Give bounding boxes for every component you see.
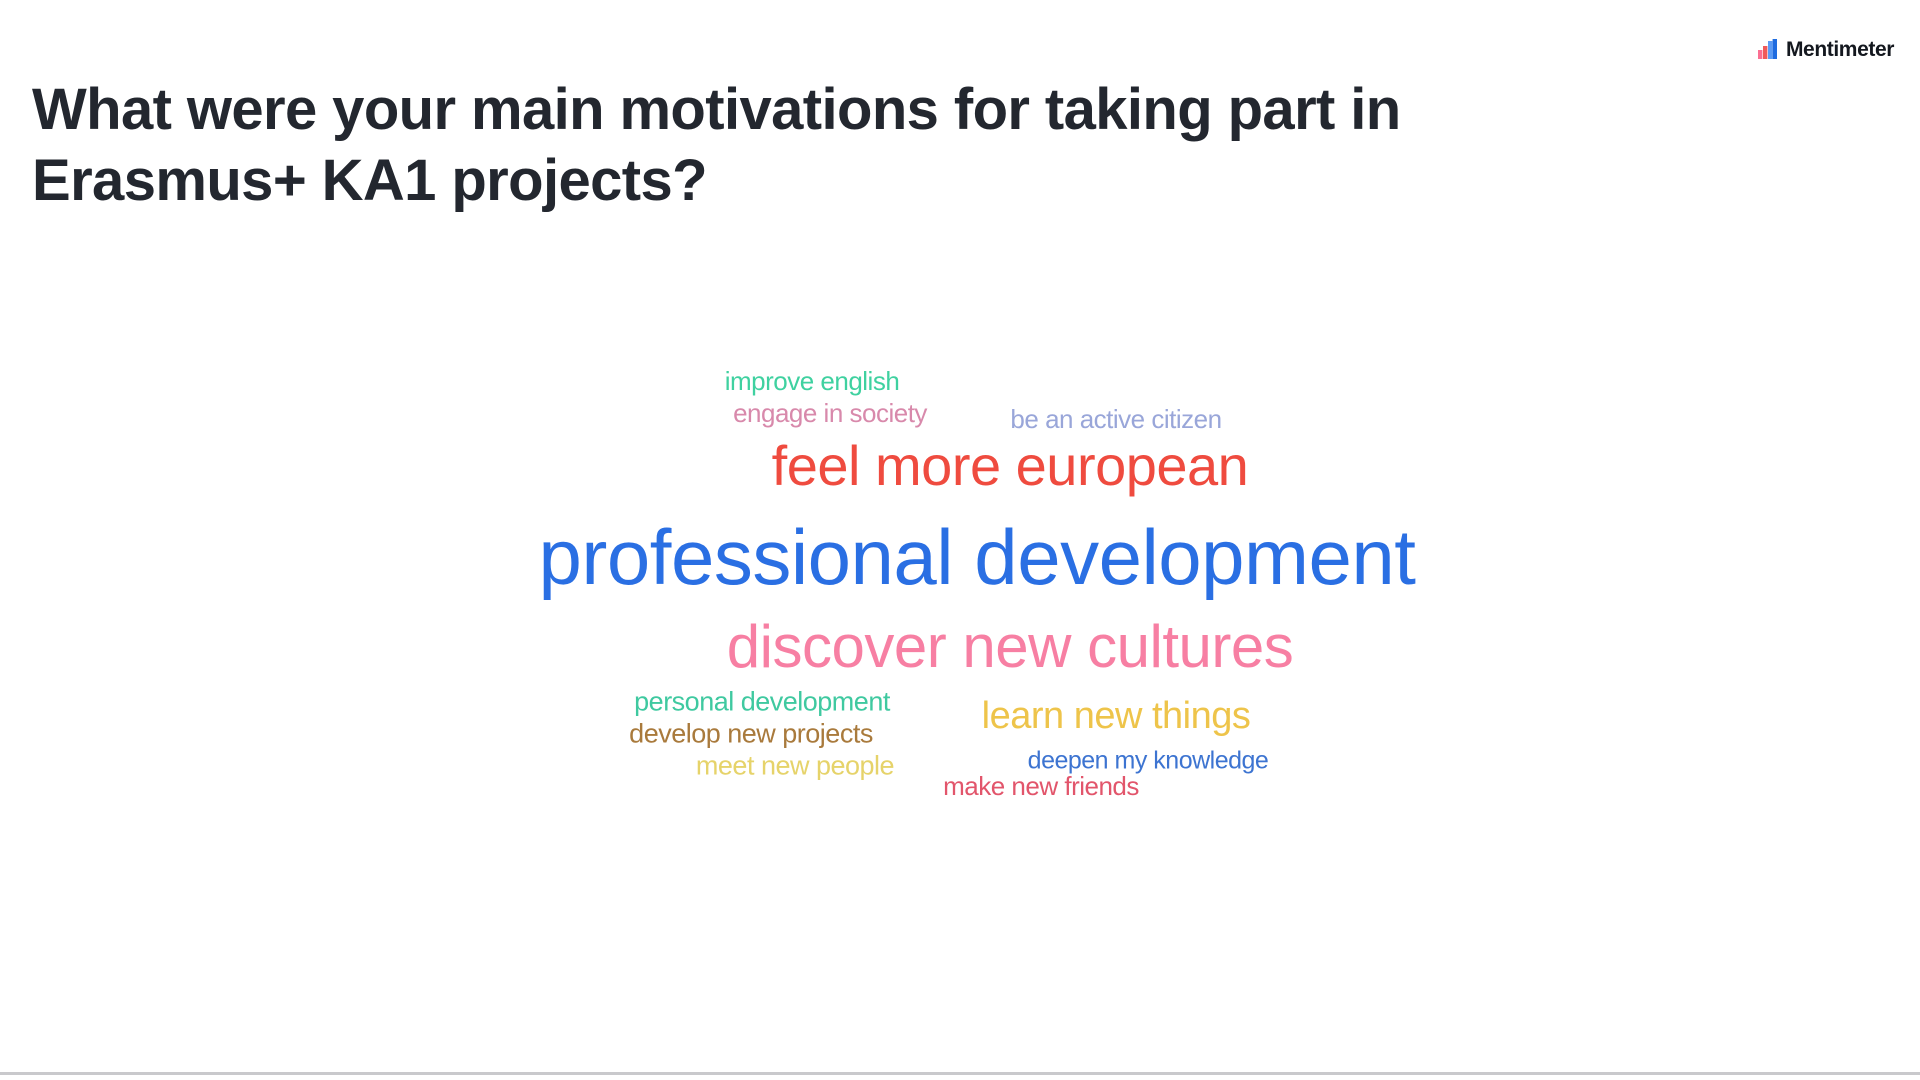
cloud-word[interactable]: personal development — [634, 689, 890, 716]
brand-name-label: Mentimeter — [1786, 39, 1894, 60]
cloud-word[interactable]: improve english — [725, 368, 900, 394]
page-title: What were your main motivations for taki… — [32, 75, 1692, 217]
cloud-word[interactable]: develop new projects — [629, 721, 873, 748]
cloud-word[interactable]: engage in society — [733, 400, 927, 426]
footer-divider — [0, 1072, 1920, 1075]
presentation-slide: What were your main motivations for taki… — [0, 0, 1920, 1080]
cloud-word[interactable]: meet new people — [696, 753, 894, 780]
mentimeter-brand: Mentimeter — [1757, 38, 1894, 60]
cloud-word[interactable]: discover new cultures — [727, 617, 1293, 677]
bar-chart-logo-icon — [1757, 38, 1779, 60]
cloud-word[interactable]: professional development — [539, 518, 1416, 596]
cloud-word[interactable]: learn new things — [982, 697, 1251, 735]
cloud-word[interactable]: be an active citizen — [1010, 406, 1221, 432]
cloud-word[interactable]: make new friends — [943, 773, 1139, 799]
cloud-word[interactable]: deepen my knowledge — [1028, 749, 1269, 774]
cloud-word[interactable]: feel more european — [772, 438, 1249, 494]
